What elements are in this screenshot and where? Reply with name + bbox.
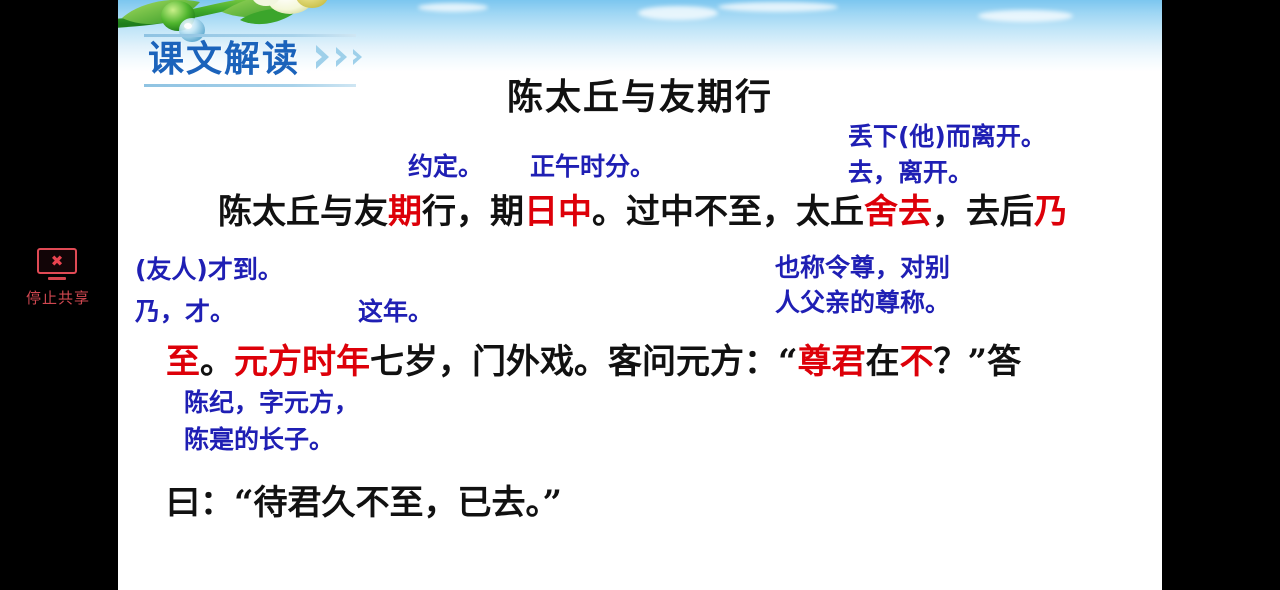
highlighted-text-run: 期 <box>388 192 422 232</box>
section-heading-label: 课文解读 <box>148 40 300 80</box>
annotation-nai-cai: 乃，才。 <box>135 297 235 327</box>
annotation-qu-likai: 去，离开。 <box>848 158 973 188</box>
slide-title: 陈太丘与友期行 <box>118 76 1162 118</box>
text-run: 。过中不至，太丘 <box>592 192 864 232</box>
text-run: 在 <box>866 342 900 382</box>
highlighted-text-run: 舍去 <box>864 192 932 232</box>
screen-root: ✖ 停止共享 <box>0 0 1280 590</box>
highlighted-text-run: 日中 <box>524 192 592 232</box>
annotation-youren-cai-dao: (友人)才到。 <box>135 255 283 285</box>
annotation-chenji-line2: 陈寔的长子。 <box>184 425 334 455</box>
monitor-stand-shape <box>48 277 66 280</box>
cloud-icon <box>718 2 838 12</box>
annotation-zhengwu-shifen: 正午时分。 <box>530 152 655 182</box>
cloud-icon <box>978 10 1073 22</box>
stop-share-label: 停止共享 <box>26 289 90 307</box>
annotation-diuxia-er-likai: 丢下(他)而离开。 <box>848 122 1046 152</box>
shared-slide: 课文解读 陈太丘与友期行 约定。 正午时分。 丢下(他)而离开。 去，离开。 (… <box>118 0 1162 590</box>
highlighted-text-run: 元方时年 <box>234 342 370 382</box>
highlighted-text-run: 不 <box>900 342 934 382</box>
text-run: ？”答 <box>934 342 1022 382</box>
screen-share-toolbar: ✖ 停止共享 <box>0 0 118 590</box>
highlighted-text-run: 尊君 <box>798 342 866 382</box>
triple-chevron-right-icon <box>314 42 364 72</box>
text-run: 陈太丘与友 <box>218 192 388 232</box>
monitor-screen-shape: ✖ <box>37 248 77 274</box>
section-heading: 课文解读 <box>148 40 364 80</box>
text-run: 。 <box>200 342 234 382</box>
text-run: ，去后 <box>932 192 1034 232</box>
text-run: 曰：“待君久不至，已去。” <box>166 483 562 523</box>
annotation-lingzun-line2: 人父亲的尊称。 <box>775 288 950 318</box>
stop-share-button[interactable]: ✖ 停止共享 <box>8 248 108 334</box>
body-text-line-3: 曰：“待君久不至，已去。” <box>166 483 562 523</box>
text-run: 行，期 <box>422 192 524 232</box>
text-run: 七岁，门外戏。客问元方：“ <box>370 342 798 382</box>
annotation-zhe-nian: 这年。 <box>358 297 433 327</box>
annotation-yueding: 约定。 <box>408 152 483 182</box>
annotation-chenji-line1: 陈纪，字元方， <box>184 388 359 418</box>
close-x-glyph: ✖ <box>51 254 64 269</box>
highlighted-text-run: 至 <box>166 342 200 382</box>
body-text-line-1: 陈太丘与友期行，期日中。过中不至，太丘舍去，去后乃 <box>218 192 1068 232</box>
heading-rule-top <box>144 34 356 37</box>
cloud-icon <box>418 3 488 12</box>
cloud-icon <box>638 6 718 20</box>
monitor-with-x-icon: ✖ <box>37 248 79 282</box>
highlighted-text-run: 乃 <box>1034 192 1068 232</box>
body-text-line-2: 至。元方时年七岁，门外戏。客问元方：“尊君在不？”答 <box>166 342 1021 382</box>
annotation-lingzun-line1: 也称令尊，对别 <box>775 253 950 283</box>
